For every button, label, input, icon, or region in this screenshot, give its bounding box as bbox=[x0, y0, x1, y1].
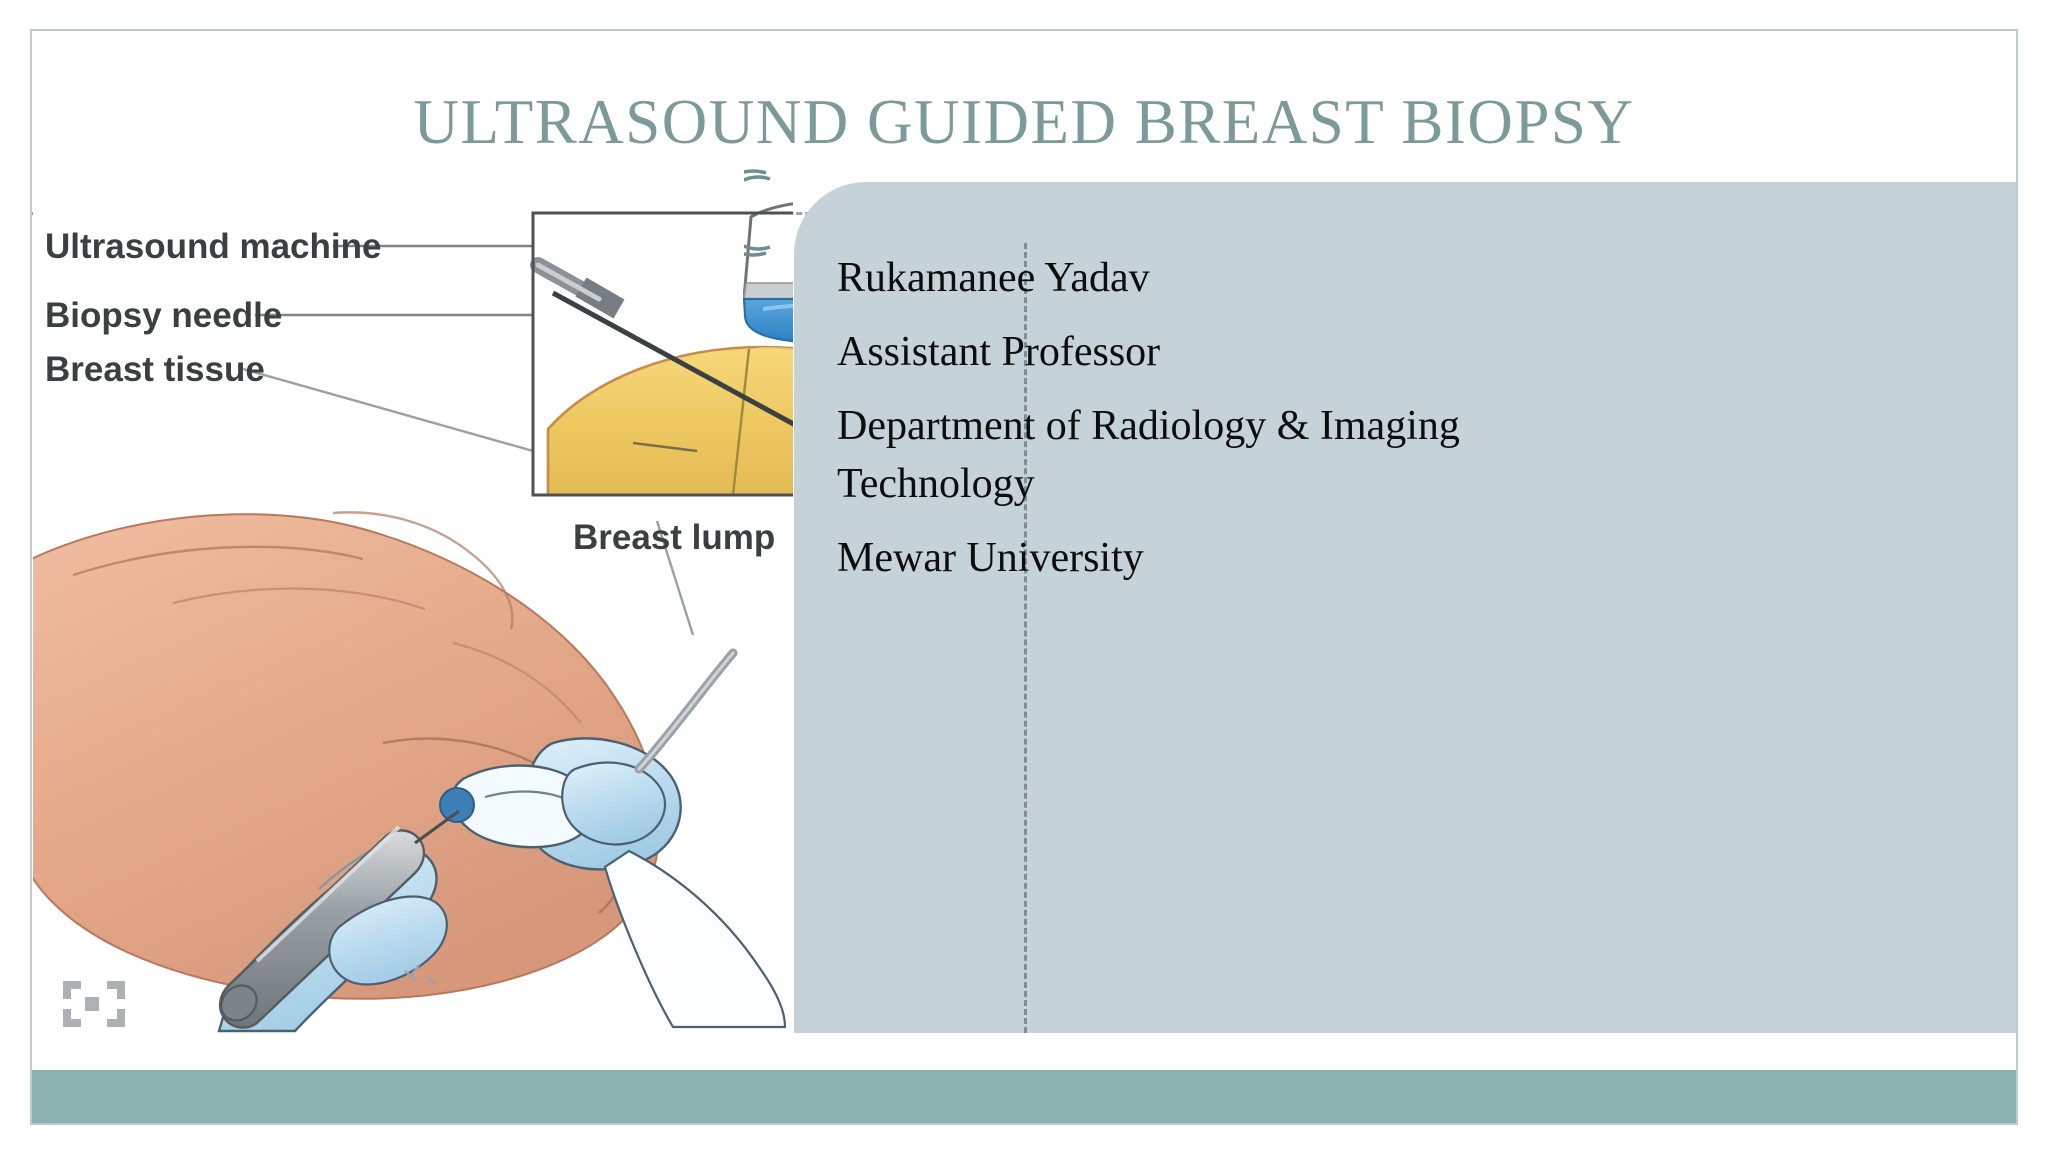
biopsy-illustration: Ultrasound machine Biopsy needle Breast … bbox=[33, 183, 793, 1033]
author-name: Rukamanee Yadav bbox=[837, 250, 1537, 308]
biopsy-illustration-svg: Ultrasound machine Biopsy needle Breast … bbox=[33, 183, 793, 1033]
author-designation: Assistant Professor bbox=[837, 324, 1537, 382]
label-ultrasound-machine: Ultrasound machine bbox=[45, 227, 381, 266]
circle-ornament-icon bbox=[744, 165, 840, 261]
label-breast-tissue: Breast tissue bbox=[45, 350, 265, 389]
slide: ULTRASOUND GUIDED BREAST BIOPSY Rukamane… bbox=[30, 29, 2018, 1125]
author-block: Rukamanee Yadav Assistant Professor Depa… bbox=[837, 250, 1537, 588]
footer-bar bbox=[32, 1070, 2016, 1123]
author-department: Department of Radiology & Imaging Techno… bbox=[837, 398, 1537, 514]
author-university: Mewar University bbox=[837, 530, 1537, 588]
label-biopsy-needle: Biopsy needle bbox=[45, 296, 282, 335]
label-breast-lump: Breast lump bbox=[573, 518, 775, 557]
page-title: ULTRASOUND GUIDED BREAST BIOPSY bbox=[32, 86, 2016, 159]
